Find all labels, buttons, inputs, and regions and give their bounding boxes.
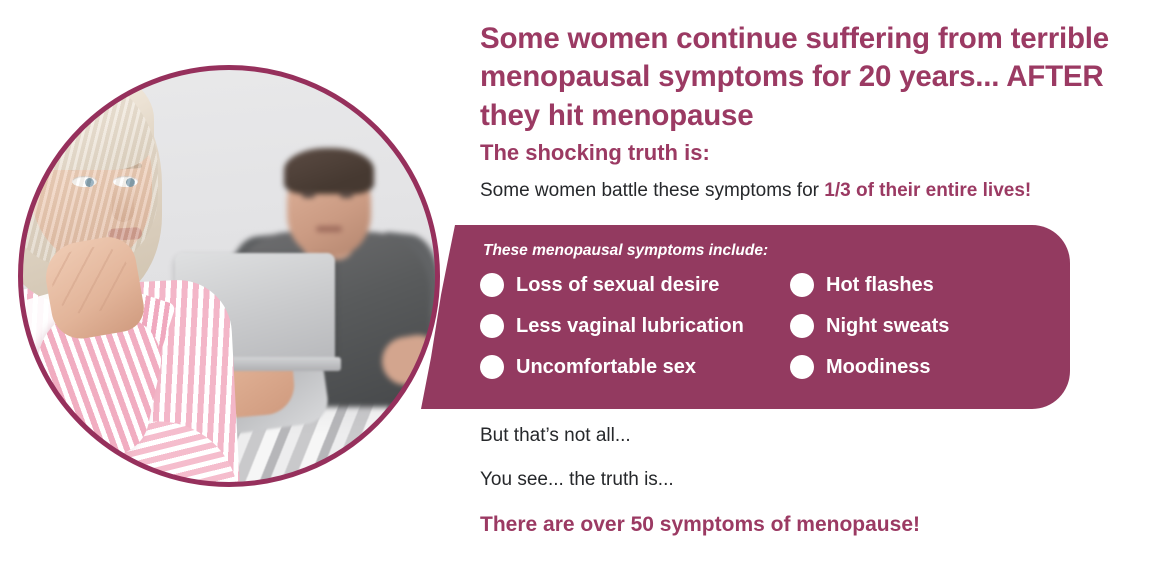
bullet-circle-icon xyxy=(480,355,504,379)
symptoms-column-left: Loss of sexual desire Less vaginal lubri… xyxy=(480,273,790,379)
symptom-label: Moodiness xyxy=(826,356,930,379)
outro-paragraphs: But that’s not all... You see... the tru… xyxy=(480,425,1140,537)
man-eye-left xyxy=(302,192,315,198)
foreground-woman-figure xyxy=(21,72,246,484)
bullet-circle-icon xyxy=(790,314,814,338)
symptom-label: Uncomfortable sex xyxy=(516,356,696,379)
list-item: Hot flashes xyxy=(790,273,1050,297)
lead-highlight: 1/3 of their entire lives! xyxy=(824,180,1031,201)
symptoms-panel-title: These menopausal symptoms include: xyxy=(483,242,768,260)
symptoms-panel: These menopausal symptoms include: Loss … xyxy=(393,225,1070,409)
outro-line-3: There are over 50 symptoms of menopause! xyxy=(480,513,1140,537)
bullet-circle-icon xyxy=(790,273,814,297)
page-title: Some women continue suffering from terri… xyxy=(480,20,1170,135)
man-hair xyxy=(284,148,374,194)
symptoms-panel-content: These menopausal symptoms include: Loss … xyxy=(480,225,1050,409)
lead-text: Some women battle these symptoms for xyxy=(480,180,824,201)
subheading: The shocking truth is: xyxy=(480,140,710,166)
list-item: Moodiness xyxy=(790,355,1050,379)
promo-page: Some women continue suffering from terri… xyxy=(0,0,1175,561)
bullet-circle-icon xyxy=(790,355,814,379)
symptom-label: Hot flashes xyxy=(826,274,934,297)
outro-line-1: But that’s not all... xyxy=(480,425,1140,447)
symptom-label: Night sweats xyxy=(826,315,949,338)
hero-photo-circle xyxy=(21,68,437,484)
hero-photo-area xyxy=(0,0,470,561)
list-item: Loss of sexual desire xyxy=(480,273,790,297)
outro-line-2: You see... the truth is... xyxy=(480,469,1140,491)
man-eye-right xyxy=(340,192,353,198)
bullet-circle-icon xyxy=(480,273,504,297)
man-mouth xyxy=(316,226,342,232)
symptom-label: Loss of sexual desire xyxy=(516,274,719,297)
symptom-label: Less vaginal lubrication xyxy=(516,315,744,338)
lead-paragraph: Some women battle these symptoms for 1/3… xyxy=(480,180,1031,202)
photo-scene xyxy=(21,68,437,484)
content-column: Some women continue suffering from terri… xyxy=(480,0,1175,561)
bullet-circle-icon xyxy=(480,314,504,338)
list-item: Less vaginal lubrication xyxy=(480,314,790,338)
list-item: Night sweats xyxy=(790,314,1050,338)
list-item: Uncomfortable sex xyxy=(480,355,790,379)
symptoms-column-right: Hot flashes Night sweats Moodiness xyxy=(790,273,1050,379)
symptoms-columns: Loss of sexual desire Less vaginal lubri… xyxy=(480,273,1060,379)
